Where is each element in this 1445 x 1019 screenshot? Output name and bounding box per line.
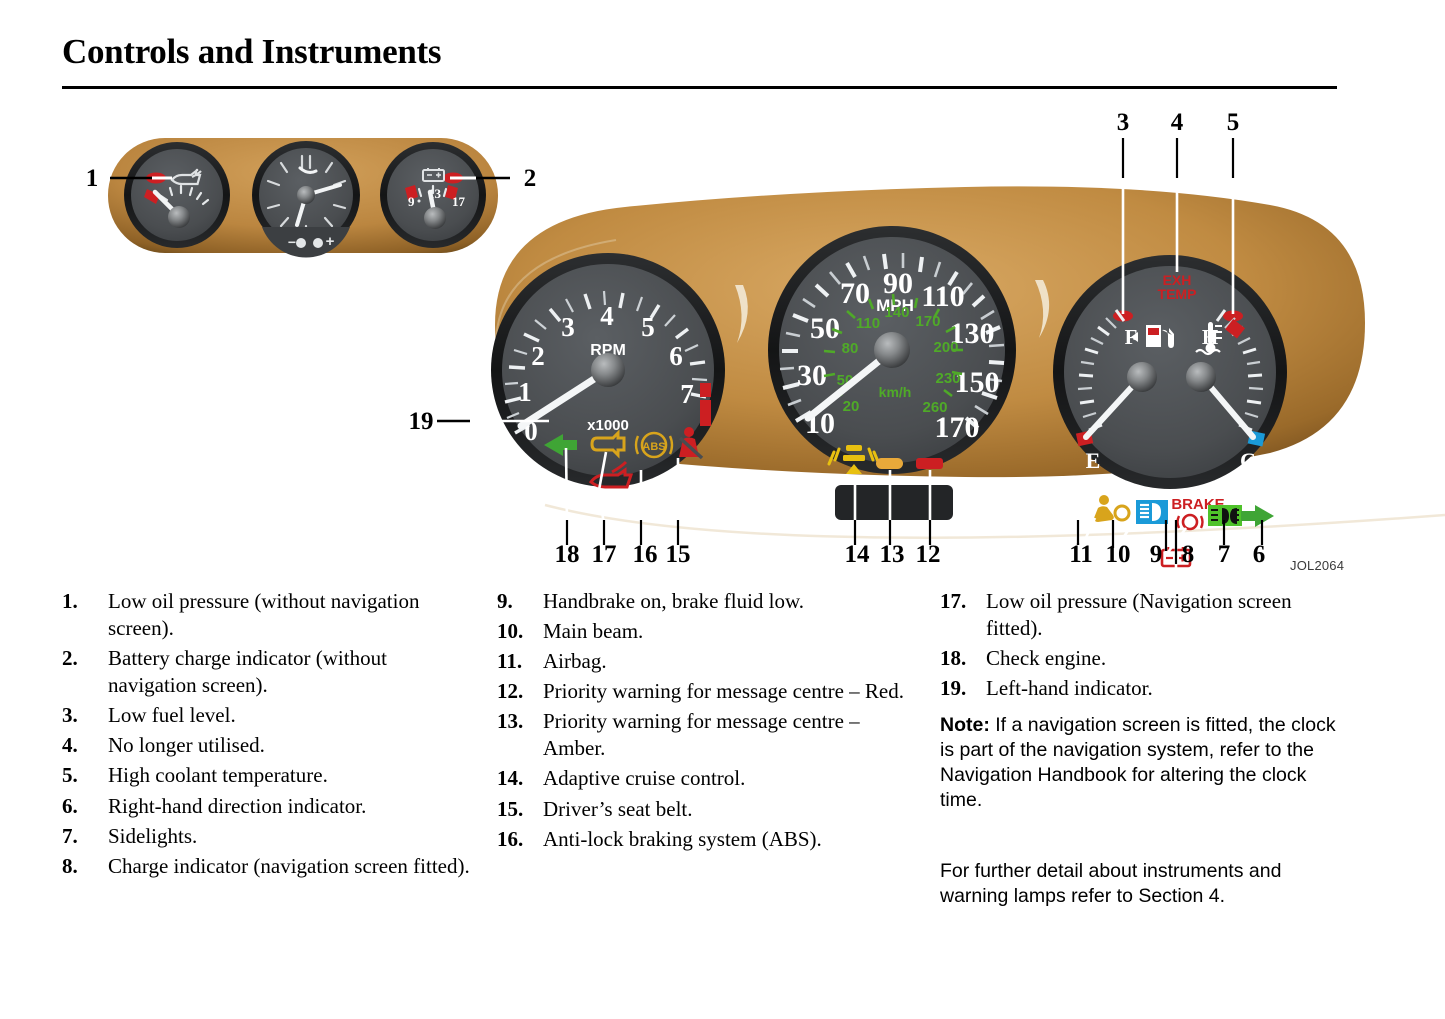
title-divider (62, 86, 1337, 89)
clock-minus-button (296, 238, 306, 248)
callout-13: 13 (880, 541, 905, 568)
legend-number: 11. (497, 648, 543, 675)
tach-tick-3: 3 (561, 312, 575, 342)
speedo-kmh-20: 20 (843, 398, 860, 415)
legend-label: No longer utilised. (108, 732, 265, 759)
legend-number: 12. (497, 678, 543, 705)
note-label: Note: (940, 714, 990, 736)
legend-item: 13. Priority warning for message centre … (497, 708, 907, 762)
legend-item: 17. Low oil pressure (Navigation screen … (940, 588, 1340, 642)
legend-number: 15. (497, 796, 543, 823)
legend-label: Priority warning for message centre – Re… (543, 678, 904, 705)
legend-number: 1. (62, 588, 108, 615)
legend-number: 17. (940, 588, 986, 615)
callout-15: 15 (666, 541, 691, 568)
message-centre-display (835, 485, 953, 520)
tach-tick-4: 4 (600, 301, 614, 331)
callout-9: 9 (1150, 541, 1163, 568)
abs-lamp-label: ABS (642, 441, 665, 453)
callout-6: 6 (1253, 541, 1266, 568)
fuel-and-temperature-gauge: EXH TEMP (1053, 255, 1287, 566)
legend-item: 18. Check engine. (940, 645, 1340, 672)
legend-item: 4. No longer utilised. (62, 732, 472, 759)
tach-tick-2: 2 (531, 341, 545, 371)
callout-4: 4 (1171, 109, 1184, 136)
auxiliary-gauge-pod: − + (108, 138, 498, 257)
legend-number: 4. (62, 732, 108, 759)
callout-14: 14 (845, 541, 871, 568)
main-beam-lamp (1136, 500, 1168, 524)
legend-item: 1. Low oil pressure (without navigation … (62, 588, 472, 642)
speedo-mph-150: 150 (955, 366, 1000, 399)
exh-temp-label-line2: TEMP (1158, 286, 1197, 302)
speedo-mph-50: 50 (810, 312, 840, 345)
callout-5: 5 (1227, 109, 1240, 136)
callout-19: 19 (409, 408, 434, 435)
right-indicator-lamp (1241, 505, 1274, 527)
callout-18: 18 (555, 541, 580, 568)
legend-column-2: 9. Handbrake on, brake fluid low. 10. Ma… (497, 588, 907, 856)
callout-10: 10 (1106, 541, 1131, 568)
callout-16: 16 (633, 541, 658, 568)
callout-11: 11 (1069, 541, 1093, 568)
temp-high-label: H (1202, 325, 1218, 349)
fuel-low-label: E (1086, 448, 1101, 473)
clock-plus-button (313, 238, 323, 248)
legend-number: 18. (940, 645, 986, 672)
further-detail-text: For further detail about instruments and… (940, 859, 1340, 909)
speedo-kmh-170: 170 (915, 313, 940, 330)
legend-label: Sidelights. (108, 823, 197, 850)
legend-number: 3. (62, 702, 108, 729)
speedo-kmh-230: 230 (935, 370, 960, 387)
legend-number: 5. (62, 762, 108, 789)
speedo-kmh-unit-label: km/h (879, 384, 912, 400)
voltmeter-tick-17: 17 (452, 194, 466, 209)
legend-item: 5. High coolant temperature. (62, 762, 472, 789)
legend-number: 16. (497, 826, 543, 853)
legend-item: 10. Main beam. (497, 618, 907, 645)
legend-label: Low oil pressure (Navigation screen fitt… (986, 588, 1340, 642)
callout-leaders-top-dark (1123, 138, 1233, 178)
voltmeter-tick-9: 9 (408, 194, 415, 209)
callout-1: 1 (86, 165, 99, 192)
tach-tick-6: 6 (669, 341, 683, 371)
legend-number: 10. (497, 618, 543, 645)
legend-number: 7. (62, 823, 108, 850)
legend-label: Check engine. (986, 645, 1106, 672)
legend-label: Battery charge indicator (without naviga… (108, 645, 472, 699)
instrument-cluster-figure: − + (0, 100, 1445, 580)
legend-item: 14. Adaptive cruise control. (497, 765, 907, 792)
figure-code: JOL2064 (1290, 558, 1344, 573)
clock-minus-label: − (288, 234, 296, 250)
legend-label: Right-hand direction indicator. (108, 793, 366, 820)
legend-label: High coolant temperature. (108, 762, 328, 789)
legend-item: 8. Charge indicator (navigation screen f… (62, 853, 472, 880)
legend-number: 13. (497, 708, 543, 735)
legend-item: 15. Driver’s seat belt. (497, 796, 907, 823)
legend-label: Low oil pressure (without navigation scr… (108, 588, 472, 642)
legend-item: 12. Priority warning for message centre … (497, 678, 907, 705)
legend-number: 9. (497, 588, 543, 615)
page-title: Controls and Instruments (62, 32, 441, 72)
legend-item: 3. Low fuel level. (62, 702, 472, 729)
legend-item: 16. Anti-lock braking system (ABS). (497, 826, 907, 853)
legend-number: 2. (62, 645, 108, 672)
callout-8: 8 (1182, 541, 1195, 568)
legend-column-1: 1. Low oil pressure (without navigation … (62, 588, 472, 883)
note-block: Note: If a navigation screen is fitted, … (940, 713, 1340, 812)
callout-12: 12 (916, 541, 941, 568)
priority-warning-amber-lamp (876, 458, 903, 469)
legend-number: 6. (62, 793, 108, 820)
legend-label: Handbrake on, brake fluid low. (543, 588, 804, 615)
temp-low-label: C (1240, 448, 1256, 473)
callout-17: 17 (592, 541, 617, 568)
legend-label: Adaptive cruise control. (543, 765, 745, 792)
legend-label: Priority warning for message centre – Am… (543, 708, 907, 762)
legend-item: 2. Battery charge indicator (without nav… (62, 645, 472, 699)
tach-tick-1: 1 (518, 377, 532, 407)
tach-tick-5: 5 (641, 312, 655, 342)
speedo-mph-110: 110 (921, 280, 964, 313)
legend-label: Driver’s seat belt. (543, 796, 692, 823)
tach-tick-7: 7 (680, 379, 694, 409)
speedo-kmh-110: 110 (856, 315, 880, 332)
legend-item: 11. Airbag. (497, 648, 907, 675)
priority-warning-red-lamp (916, 458, 943, 469)
speedo-kmh-260: 260 (922, 399, 947, 416)
legend-label: Airbag. (543, 648, 607, 675)
clock-plus-label: + (326, 233, 335, 250)
speedo-kmh-200: 200 (933, 339, 958, 356)
voltmeter-gauge: 9 13 17 (380, 142, 486, 248)
legend-label: Low fuel level. (108, 702, 236, 729)
legend-item: 9. Handbrake on, brake fluid low. (497, 588, 907, 615)
callout-7: 7 (1218, 541, 1231, 568)
legend-column-3: 17. Low oil pressure (Navigation screen … (940, 588, 1340, 909)
oil-pressure-gauge (124, 142, 230, 248)
legend-item: 19. Left-hand indicator. (940, 675, 1340, 702)
airbag-lamp (1094, 495, 1129, 522)
speedo-kmh-80: 80 (842, 340, 859, 357)
legend-item: 7. Sidelights. (62, 823, 472, 850)
tach-multiplier-label: x1000 (587, 417, 629, 434)
legend-label: Charge indicator (navigation screen fitt… (108, 853, 470, 880)
legend-label: Left-hand indicator. (986, 675, 1153, 702)
legend-number: 14. (497, 765, 543, 792)
legend-number: 19. (940, 675, 986, 702)
legend-label: Main beam. (543, 618, 643, 645)
tachometer: 0 1 2 3 4 5 6 7 RPM x1000 (491, 253, 725, 487)
legend-label: Anti-lock braking system (ABS). (543, 826, 822, 853)
note-text: If a navigation screen is fitted, the cl… (940, 714, 1336, 810)
speedo-mph-30: 30 (797, 359, 827, 392)
callout-3: 3 (1117, 109, 1130, 136)
speedo-mph-70: 70 (840, 277, 870, 310)
speedo-kmh-140: 140 (884, 304, 909, 321)
callout-2: 2 (524, 165, 537, 192)
legend-number: 8. (62, 853, 108, 880)
fuel-high-label: F (1125, 325, 1138, 349)
legend-item: 6. Right-hand direction indicator. (62, 793, 472, 820)
